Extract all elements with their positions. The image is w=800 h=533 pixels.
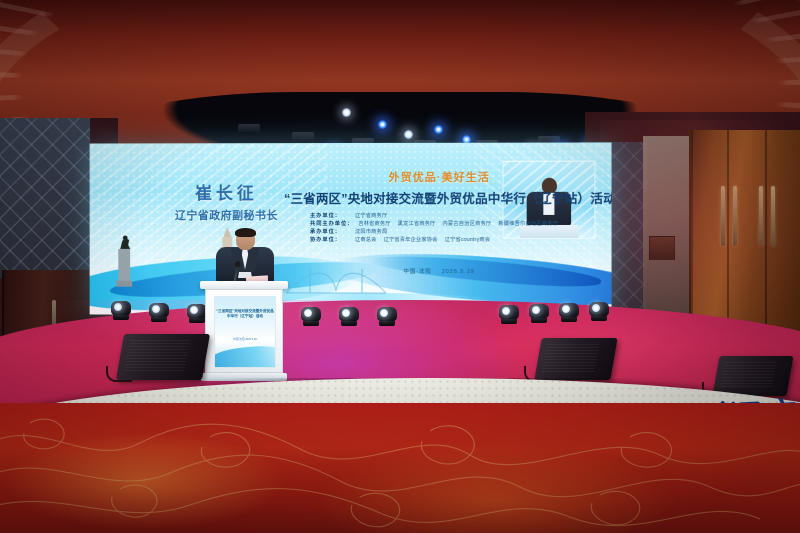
left-wall-lattice-panel (0, 118, 90, 278)
base-moving-light (338, 306, 360, 328)
speaker-hair (235, 228, 256, 237)
organizer-name: 黑龙江省商务厅 (398, 221, 436, 227)
stage-monitor-wedge (120, 334, 206, 380)
organizer-values: 辽商总会辽宁省青年企业家协会辽宁省country商会 (355, 238, 497, 244)
stage-monitor-wedge (538, 338, 614, 380)
organizer-values: 吉林省商务厅黑龙江省商务厅内蒙古自治区商务厅新疆维吾尔自治区商务厅 (358, 222, 565, 228)
event-main-title: “三省两区”央地对接交流暨外贸优品中华行（辽宁站）活动 (284, 188, 595, 207)
organizer-name: 辽宁省商务厅 (355, 213, 387, 219)
base-moving-light (300, 306, 322, 328)
organizer-values: 沈阳市商务局 (355, 230, 394, 236)
organizer-row: 协办单位：辽商总会辽宁省青年企业家协会辽宁省country商会 (310, 238, 497, 244)
door-seam (727, 130, 729, 335)
organizer-name: 辽宁省country商会 (445, 237, 491, 243)
podium-poster-date: 中国·沈阳 2025.5.29 (215, 337, 275, 341)
light-fixture (238, 124, 260, 132)
door-handle[interactable] (733, 186, 737, 246)
door-handle[interactable] (759, 186, 763, 246)
speaker-nameplate: 崔长征 辽宁省政府副秘书长 (147, 179, 306, 223)
door-handle[interactable] (721, 186, 725, 246)
podium-top-surface (200, 281, 288, 289)
organizer-label: 协办单位： (310, 238, 350, 244)
right-wall-stone-panel (643, 136, 691, 336)
organizer-name: 辽宁省青年企业家协会 (384, 237, 438, 243)
base-moving-light (110, 300, 132, 322)
organizer-values: 辽宁省商务厅 (355, 214, 394, 220)
organizer-row: 共同主办单位：吉林省商务厅黑龙江省商务厅内蒙古自治区商务厅新疆维吾尔自治区商务厅 (310, 222, 565, 228)
event-location-date: 中国·沈阳 2025.5.29 (284, 267, 595, 275)
base-moving-light (528, 303, 550, 325)
conference-stage-scene: 崔长征 辽宁省政府副秘书长 外贸优品·美好生活 “三省两区”央地对接交流暨外贸优… (0, 0, 800, 533)
door-handle[interactable] (771, 186, 775, 246)
base-moving-light (376, 306, 398, 328)
right-side-doors[interactable] (689, 130, 800, 335)
speaker-title: 辽宁省政府副秘书长 (147, 207, 306, 223)
base-moving-light (148, 302, 170, 324)
organizer-name: 沈阳市商务局 (355, 229, 387, 235)
stage-lamp (434, 125, 443, 134)
screen-text-layer: 崔长征 辽宁省政府副秘书长 外贸优品·美好生活 “三省两区”央地对接交流暨外贸优… (90, 142, 612, 315)
event-date: 2025.5.29 (442, 269, 475, 275)
door-seam (765, 130, 767, 335)
organizer-label: 承办单位： (310, 230, 350, 236)
organizer-row: 主办单位：辽宁省商务厅 (310, 214, 394, 220)
venue-carpet (0, 403, 800, 533)
light-fixture (292, 132, 314, 140)
organizer-label: 共同主办单位： (310, 222, 353, 228)
base-moving-light (558, 302, 580, 324)
podium-poster-title: “三省两区”央地对接交流暨外贸优品中华行（辽宁站）活动 (215, 309, 275, 320)
base-moving-light (498, 304, 520, 326)
organizer-list: 主办单位：辽宁省商务厅共同主办单位：吉林省商务厅黑龙江省商务厅内蒙古自治区商务厅… (284, 214, 595, 244)
podium-front-poster: “三省两区”央地对接交流暨外贸优品中华行（辽宁站）活动 中国·沈阳 2025.5… (214, 296, 276, 368)
led-backdrop-screen: 崔长征 辽宁省政府副秘书长 外贸优品·美好生活 “三省两区”央地对接交流暨外贸优… (90, 142, 612, 315)
organizer-name: 内蒙古自治区商务厅 (443, 221, 492, 227)
organizer-label: 主办单位： (310, 214, 350, 220)
organizer-name: 吉林省商务厅 (358, 221, 390, 227)
stage-lamp (404, 130, 413, 139)
stage-lamp (342, 108, 351, 117)
speaker-name: 崔长征 (147, 179, 306, 204)
event-location: 中国·沈阳 (403, 269, 431, 275)
base-moving-light (588, 301, 610, 323)
organizer-name: 新疆维吾尔自治区商务厅 (498, 221, 558, 227)
carpet-cloud-pattern (0, 403, 800, 533)
organizer-name: 辽商总会 (355, 237, 377, 243)
stage-lamp (378, 120, 387, 129)
event-slogan: 外贸优品·美好生活 (284, 169, 595, 185)
podium-lectern: “三省两区”央地对接交流暨外贸优品中华行（辽宁站）活动 中国·沈阳 2025.5… (205, 281, 283, 381)
organizer-row: 承办单位：沈阳市商务局 (310, 230, 394, 236)
podium-body: “三省两区”央地对接交流暨外贸优品中华行（辽宁站）活动 中国·沈阳 2025.5… (205, 289, 283, 373)
event-title-block: 外贸优品·美好生活 “三省两区”央地对接交流暨外贸优品中华行（辽宁站）活动 主办… (284, 169, 595, 244)
podium-poster-wave (214, 344, 276, 368)
